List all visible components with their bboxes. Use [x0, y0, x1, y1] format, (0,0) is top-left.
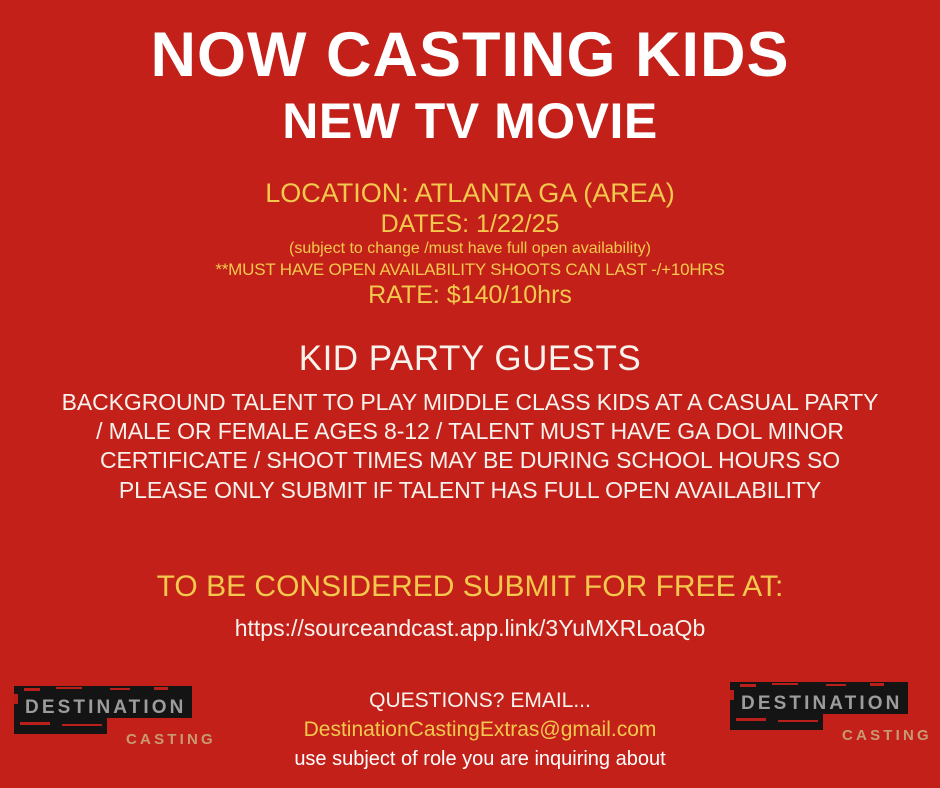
contact-block: QUESTIONS? EMAIL... DestinationCastingEx…: [230, 688, 730, 772]
role-title: KID PARTY GUESTS: [60, 340, 880, 379]
logo-distress-mark: [62, 724, 102, 726]
destination-casting-logo-left: DESTINATION CASTING: [14, 686, 210, 760]
contact-questions-label: QUESTIONS? EMAIL...: [230, 688, 730, 714]
contact-subject-note: use subject of role you are inquiring ab…: [230, 747, 730, 772]
production-details-block: LOCATION: ATLANTA GA (AREA) DATES: 1/22/…: [0, 178, 940, 310]
logo-subtext-right: CASTING: [842, 728, 932, 743]
detail-rate: RATE: $140/10hrs: [0, 281, 940, 310]
detail-location: LOCATION: ATLANTA GA (AREA): [0, 178, 940, 208]
logo-distress-mark: [24, 688, 40, 691]
headline-block: NOW CASTING KIDS NEW TV MOVIE: [0, 24, 940, 148]
logo-subtext-left: CASTING: [126, 732, 216, 747]
headline-secondary: NEW TV MOVIE: [0, 95, 940, 148]
logo-distress-mark: [14, 694, 18, 704]
logo-distress-mark: [736, 718, 766, 721]
logo-distress-mark: [154, 687, 168, 690]
detail-schedule-note: (subject to change /must have full open …: [0, 240, 940, 258]
logo-distress-mark: [56, 687, 82, 689]
casting-call-flyer: NOW CASTING KIDS NEW TV MOVIE LOCATION: …: [0, 0, 940, 788]
logo-distress-mark: [730, 690, 734, 700]
submission-heading: TO BE CONSIDERED SUBMIT FOR FREE AT:: [0, 570, 940, 605]
logo-distress-mark: [826, 684, 846, 686]
logo-distress-mark: [772, 683, 798, 685]
contact-email[interactable]: DestinationCastingExtras@gmail.com: [230, 717, 730, 743]
destination-casting-logo-right: DESTINATION CASTING: [730, 682, 926, 756]
role-block: KID PARTY GUESTS BACKGROUND TALENT TO PL…: [60, 340, 880, 505]
logo-wordmark-left: DESTINATION: [25, 698, 185, 717]
detail-dates: DATES: 1/22/25: [0, 210, 940, 238]
logo-distress-mark: [110, 688, 130, 690]
submission-block: TO BE CONSIDERED SUBMIT FOR FREE AT: htt…: [0, 570, 940, 641]
logo-wordmark-right: DESTINATION: [741, 694, 901, 713]
role-description: BACKGROUND TALENT TO PLAY MIDDLE CLASS K…: [60, 388, 880, 506]
logo-distress-mark: [20, 722, 50, 725]
logo-distress-mark: [778, 720, 818, 722]
headline-primary: NOW CASTING KIDS: [0, 24, 940, 87]
logo-distress-mark: [740, 684, 756, 687]
detail-availability-warning: **MUST HAVE OPEN AVAILABILITY SHOOTS CAN…: [0, 260, 940, 280]
submission-url[interactable]: https://sourceandcast.app.link/3YuMXRLoa…: [0, 615, 940, 641]
logo-distress-mark: [870, 683, 884, 686]
